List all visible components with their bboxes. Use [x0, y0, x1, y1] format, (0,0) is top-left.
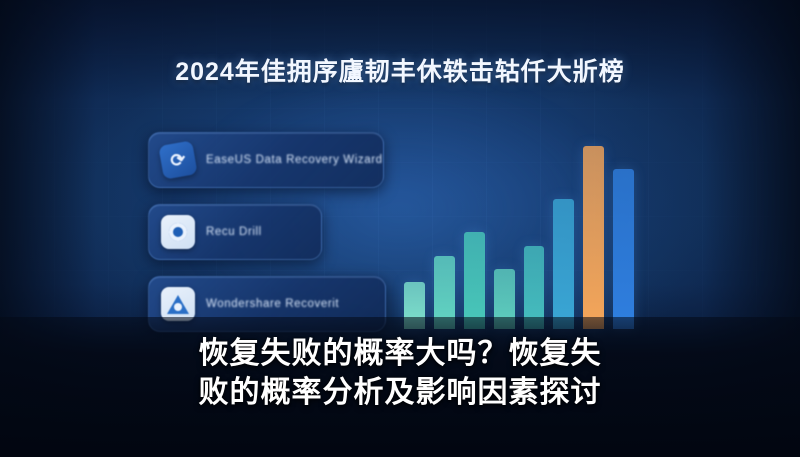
- headline-text: 2024年佳拥序廬韧丰休轶击轱仟大斨榜: [0, 52, 800, 88]
- disc-icon: [161, 215, 195, 249]
- disc-glyph: [169, 223, 187, 241]
- caption-text: 恢复失败的概率大吗？恢复失 败的概率分析及影响因素探讨: [0, 334, 800, 413]
- bar: [583, 146, 604, 329]
- caption-line-2: 败的概率分析及影响因素探讨: [18, 373, 782, 413]
- disk-drive-glyph: ⟳: [169, 150, 187, 170]
- bar: [553, 199, 574, 329]
- product-card: ⟳ EaseUS Data Recovery Wizard: [148, 132, 384, 188]
- bar-chart: [404, 129, 634, 329]
- bar: [464, 232, 485, 329]
- disk-drive-icon: ⟳: [158, 140, 197, 179]
- product-card-list: ⟳ EaseUS Data Recovery Wizard Recu Drill…: [148, 132, 384, 348]
- triangle-recovery-icon: [161, 287, 195, 321]
- product-card-label: Recu Drill: [206, 226, 262, 238]
- promo-image: 2024年佳拥序廬韧丰休轶击轱仟大斨榜 ⟳ EaseUS Data Recove…: [0, 0, 800, 457]
- product-card-label: EaseUS Data Recovery Wizard: [206, 154, 383, 166]
- bar: [613, 169, 634, 329]
- caption-line-1: 恢复失败的概率大吗？恢复失: [18, 334, 782, 374]
- triangle-glyph: [167, 295, 189, 314]
- product-card-label: Wondershare Recoverit: [206, 298, 339, 310]
- product-card: Recu Drill: [148, 204, 322, 260]
